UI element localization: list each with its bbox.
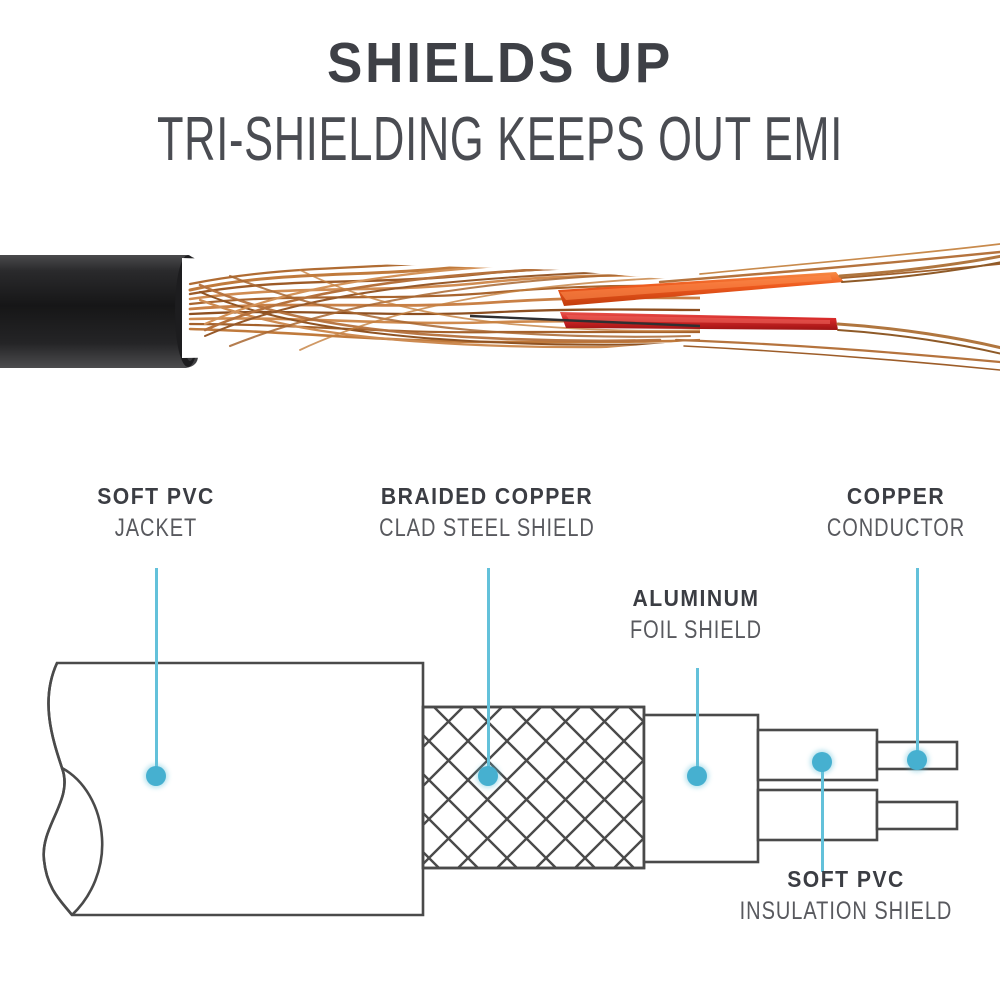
callout-dot-braid[interactable]	[478, 766, 498, 786]
diagram-jacket-shape	[44, 663, 423, 915]
callout-label-soft-pvc-insulation: SOFT PVC INSULATION SHIELD	[701, 866, 991, 926]
leader-line-foil	[696, 668, 699, 776]
diagram-braid-shield	[423, 707, 644, 868]
callout-dot-foil[interactable]	[687, 766, 707, 786]
callout-line1: ALUMINUM	[586, 585, 807, 612]
diagram-foil-shield	[644, 715, 758, 862]
callout-line1: COPPER	[786, 483, 1000, 510]
callout-line2: JACKET	[60, 514, 252, 543]
callout-label-aluminum-foil: ALUMINUM FOIL SHIELD	[576, 585, 816, 645]
callout-line1: SOFT PVC	[713, 866, 980, 893]
leader-line-insulation	[821, 762, 824, 872]
callout-line2: CLAD STEEL SHIELD	[367, 514, 607, 543]
callout-line1: BRAIDED COPPER	[349, 483, 625, 510]
callout-label-soft-pvc-jacket: SOFT PVC JACKET	[36, 483, 276, 543]
leader-line-jacket	[155, 568, 158, 776]
callout-dot-jacket[interactable]	[146, 766, 166, 786]
leader-line-braid	[487, 568, 490, 776]
diagram-insulation-lower	[758, 790, 877, 840]
callout-line2: INSULATION SHIELD	[730, 897, 962, 926]
leader-line-conductor	[916, 568, 919, 760]
callout-line2: FOIL SHIELD	[600, 616, 792, 645]
callout-label-braided-copper: BRAIDED COPPER CLAD STEEL SHIELD	[337, 483, 637, 543]
callout-line2: CONDUCTOR	[800, 514, 992, 543]
diagram-conductor-lower	[877, 802, 957, 829]
callout-label-copper-conductor: COPPER CONDUCTOR	[776, 483, 1000, 543]
callout-dot-insulation[interactable]	[812, 752, 832, 772]
callout-dot-conductor[interactable]	[907, 750, 927, 770]
cable-infographic: SHIELDS UP TRI-SHIELDING KEEPS OUT EMI	[0, 0, 1000, 1000]
callout-line1: SOFT PVC	[46, 483, 267, 510]
